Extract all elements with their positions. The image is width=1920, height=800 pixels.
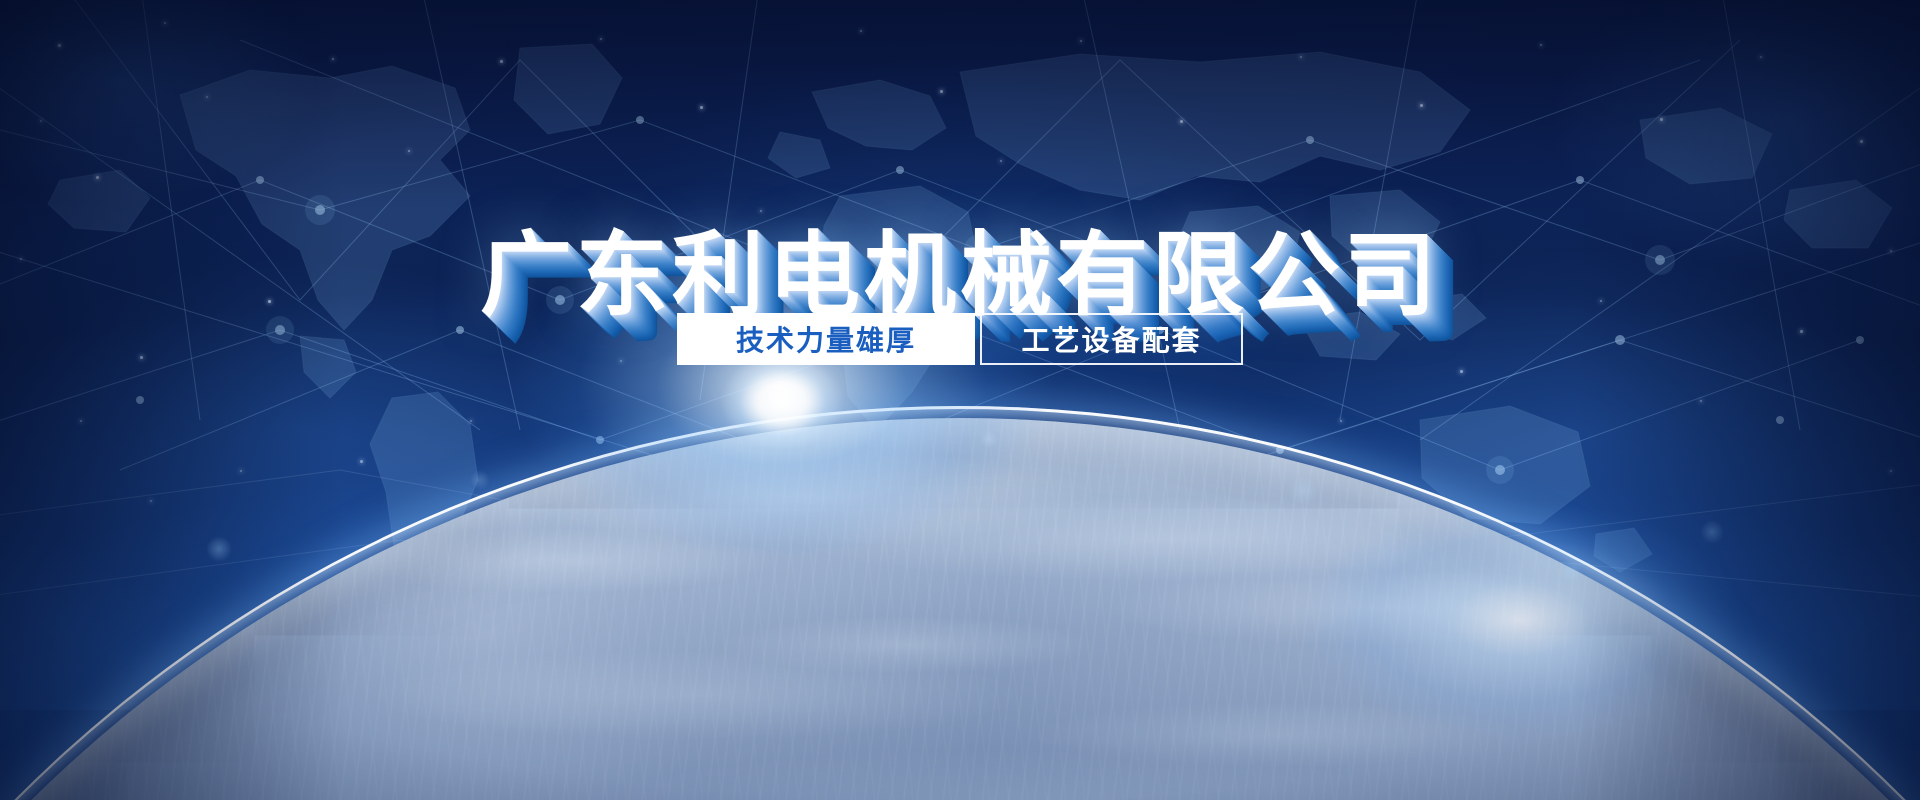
- badge-process-equipment[interactable]: 工艺设备配套: [980, 313, 1243, 365]
- hero-banner: 广东利电机械有限公司 技术力量雄厚 工艺设备配套: [0, 0, 1920, 800]
- badge-technical-strength[interactable]: 技术力量雄厚: [677, 313, 975, 365]
- banner-badge-row: 技术力量雄厚 工艺设备配套: [0, 313, 1920, 365]
- banner-content: 广东利电机械有限公司 技术力量雄厚 工艺设备配套: [0, 0, 1920, 800]
- company-title: 广东利电机械有限公司: [480, 230, 1440, 322]
